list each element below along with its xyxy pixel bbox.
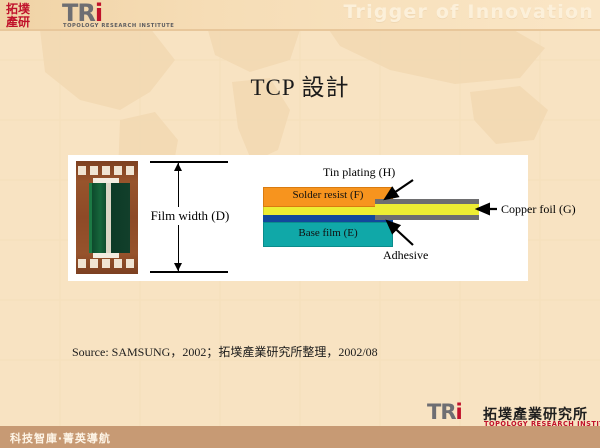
callout-label-copper-foil: Copper foil (G) [501, 202, 576, 217]
tri-logo-footer-wordmark: TRi [427, 401, 462, 423]
tri-logo-cjk-line2: 產研 [6, 16, 30, 28]
dimension-arrow-down-icon [174, 263, 182, 271]
tri-logo-cjk-block: 拓墣 產研 [6, 3, 58, 29]
source-note: Source: SAMSUNG，2002；拓墣產業研究所整理，2002/08 [72, 343, 378, 360]
photo-lead-bar-top [93, 178, 119, 183]
tri-logo-cjk-line1: 拓墣 [6, 3, 30, 15]
photo-lead-bar-bottom [93, 253, 119, 258]
sprocket-row-bottom [78, 259, 136, 269]
tri-logo-footer-red-dot: i [456, 400, 462, 424]
tri-logo-subtitle: TOPOLOGY RESEARCH INSTITUTE [63, 23, 174, 29]
layer-adhesive [263, 215, 393, 222]
layer-label-base-film: Base film (E) [263, 227, 393, 239]
layer-copper-foil-lead [375, 204, 479, 215]
dimension-arrow-up-icon [174, 163, 182, 171]
footer-tagline: 科技智庫‧菁英導航 [10, 430, 111, 446]
tri-logo-footer: TRi 拓墣產業研究所 TOPOLOGY RESEARCH INSTITUTE [427, 404, 592, 428]
footer-bar: 科技智庫‧菁英導航 [0, 426, 600, 448]
sprocket-row-top [78, 166, 136, 176]
tcp-film-photo [76, 161, 138, 274]
page-title: TCP 設計 [0, 68, 600, 102]
figure-panel: Film width (D) Solder resist (F) Base fi… [68, 155, 528, 281]
banner-tagline: Trigger of Innovation [343, 1, 594, 23]
layer-copper-foil-body [263, 207, 393, 215]
dimension-rule-bottom [150, 271, 228, 273]
layer-tin-plating-bottom [375, 215, 479, 220]
tri-logo-header: 拓墣 產研 TRi TOPOLOGY RESEARCH INSTITUTE [6, 3, 156, 30]
callout-label-adhesive: Adhesive [383, 248, 428, 263]
photo-chip-highlight [106, 183, 111, 253]
slide-canvas: Trigger of Innovation 拓墣 產研 TRi TOPOLOGY… [0, 0, 600, 448]
dimension-label: Film width (D) [140, 207, 240, 225]
dimension-rule-top [150, 161, 228, 163]
callout-label-tin-plating: Tin plating (H) [323, 165, 395, 180]
tri-logo-wordmark: TRi [62, 1, 102, 25]
cross-section-diagram: Solder resist (F) Base film (E) [263, 155, 525, 281]
layer-label-solder-resist: Solder resist (F) [263, 189, 393, 201]
